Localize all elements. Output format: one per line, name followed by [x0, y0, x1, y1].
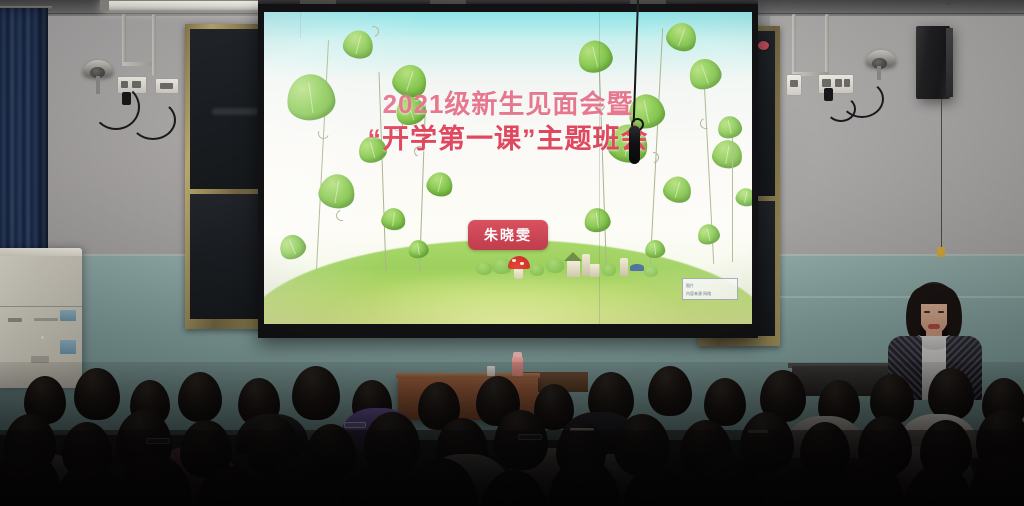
slide-corner-label: 图片 内容来源 网络: [682, 278, 738, 300]
slide-title-line-1: 2021级新生见面会暨: [264, 90, 752, 119]
camera-wire-left-2: [130, 100, 176, 140]
speaker-hanging-wire: [941, 99, 942, 250]
slide-title-line-2: “开学第一课”主题班会: [264, 124, 752, 154]
conduit-left-horizontal: [122, 62, 156, 66]
wire-clip: [937, 247, 945, 257]
conduit-left-drop: [152, 62, 156, 76]
water-bottle-cap: [513, 352, 522, 357]
audience-head: [648, 366, 692, 416]
audience-head: [928, 368, 974, 420]
window-curtain: [0, 8, 48, 256]
audience-head: [704, 378, 746, 426]
slide-surface: 2021级新生见面会暨 “开学第一课”主题班会 朱晓雯 图片 内容来源 网络: [264, 12, 752, 324]
air-conditioner-control-panel[interactable]: [60, 340, 76, 354]
conduit-right-vertical: [792, 14, 796, 76]
outlet-slot: [132, 81, 141, 88]
air-conditioner-top: [0, 248, 82, 256]
wall-speaker-side: [946, 28, 953, 97]
slide-title-block: 2021级新生见面会暨 “开学第一课”主题班会: [264, 90, 752, 154]
classroom-photo-scene: 2021级新生见面会暨 “开学第一课”主题班会 朱晓雯 图片 内容来源 网络: [0, 0, 1024, 506]
presenter-hair-side-left: [906, 294, 921, 338]
presenter-eye-right: [938, 311, 944, 313]
air-conditioner-seam: [0, 306, 82, 307]
presenter-mouth: [928, 324, 940, 329]
conduit-left-vertical: [122, 14, 126, 66]
presenter-eye-left: [924, 311, 930, 313]
presenter-hair-side-right: [947, 294, 962, 338]
audience-head: [292, 366, 340, 420]
outlet-slot: [160, 83, 173, 89]
air-conditioner-led: [41, 336, 44, 339]
power-outlet-right: [786, 74, 802, 96]
foreground-shadow: [0, 430, 1024, 506]
dome-camera-right-arm: [877, 66, 881, 80]
blackboard-chalk-smudge: [212, 108, 258, 115]
outlet-slot: [790, 80, 798, 87]
air-conditioner-label: [34, 318, 58, 321]
blackboard-sticker: [758, 41, 769, 50]
outlet-slot: [835, 79, 842, 87]
presenter-collar: [920, 336, 948, 350]
conduit-right-vertical-2: [825, 14, 829, 76]
camera-wire-right-2: [826, 96, 856, 122]
corner-label-line-1: 图片: [686, 283, 694, 288]
audience-head: [74, 368, 120, 420]
slide-presenter-badge: 朱晓雯: [468, 220, 548, 250]
hanging-microphone: [629, 126, 640, 164]
outlet-slot: [822, 79, 831, 87]
screen-panel-seam-2: [300, 12, 301, 38]
wall-speaker: [916, 26, 950, 99]
tube-light-cap-left: [100, 0, 109, 11]
power-outlet-left-2: [155, 78, 179, 94]
air-conditioner-display: [60, 310, 76, 321]
projection-screen[interactable]: 2021级新生见面会暨 “开学第一课”主题班会 朱晓雯 图片 内容来源 网络: [258, 4, 758, 338]
audience-head: [178, 372, 222, 422]
audience-glasses: [344, 422, 366, 428]
air-conditioner-logo: [8, 318, 22, 322]
corner-label-line-2: 内容来源 网络: [686, 291, 711, 296]
conduit-left-vertical-2: [152, 14, 156, 66]
screen-panel-seam: [599, 12, 600, 324]
